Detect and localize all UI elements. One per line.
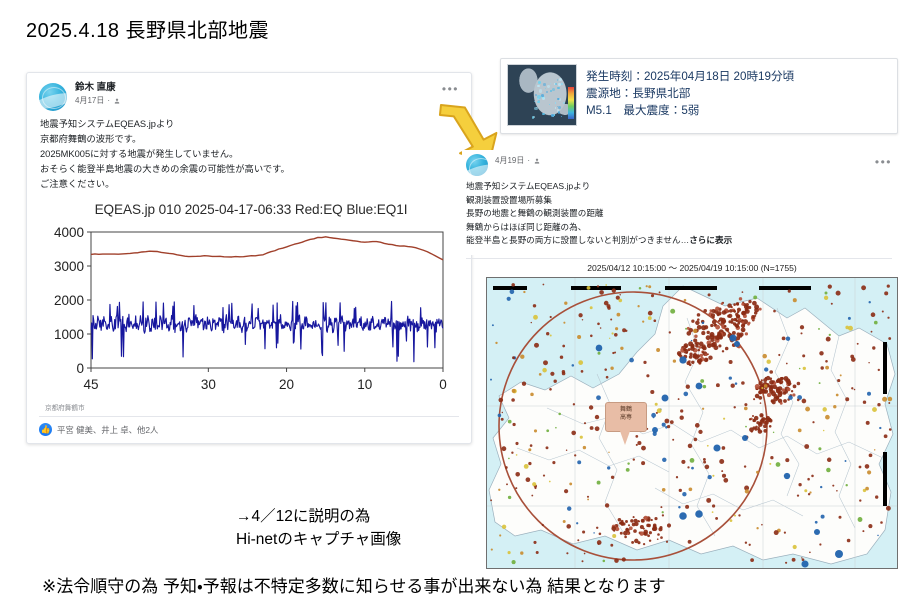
epicenter-dot xyxy=(807,478,810,481)
epicenter-dot xyxy=(758,381,762,385)
epicenter-dot xyxy=(802,399,807,404)
epicenter-dot xyxy=(633,516,635,518)
epicenter-dot xyxy=(688,444,693,449)
epicenter-dot xyxy=(502,412,503,413)
epicenter-dot xyxy=(647,534,650,537)
epicenter-dot xyxy=(869,453,873,457)
epicenter-dot xyxy=(833,405,836,408)
epicenter-dot xyxy=(590,306,593,309)
epicenter-dot xyxy=(512,389,516,393)
epicenter-dot xyxy=(734,406,736,408)
epicenter-dot xyxy=(502,525,506,529)
epicenter-dot xyxy=(815,521,818,524)
epicenter-dot xyxy=(498,489,500,491)
epicenter-dot xyxy=(629,358,634,363)
epicenter-dot xyxy=(793,385,797,389)
epicenter-dot xyxy=(703,309,707,313)
epicenter-dot xyxy=(711,343,716,348)
epicenter-dot xyxy=(562,345,565,348)
epicenter-dot xyxy=(705,465,710,470)
hinet-epicenter-map: 2025/04/12 10:15:00 ～ 2025/04/19 10:15:0… xyxy=(486,262,898,570)
epicenter-dot xyxy=(820,366,823,369)
epicenter-dot xyxy=(657,538,659,540)
station-label-line: 舞鶴 xyxy=(606,406,646,414)
epicenter-dot xyxy=(784,473,790,479)
epicenter-dot xyxy=(495,342,497,344)
epicenter-dot xyxy=(563,520,566,523)
epicenter-dot xyxy=(654,517,657,520)
epicenter-dot xyxy=(874,449,875,450)
epicenter-dot xyxy=(742,435,748,441)
epicenter-dot xyxy=(659,291,661,293)
epicenter-dot xyxy=(574,454,576,456)
epicenter-dot xyxy=(787,387,791,391)
epicenter-dot xyxy=(629,526,633,530)
epicenter-dot xyxy=(730,519,733,522)
post1-body-line: ご注意ください。 xyxy=(40,177,458,192)
epicenter-dot xyxy=(736,332,740,336)
chart-title: EQEAS.jp 010 2025-04-17-06:33 Red:EQ Blu… xyxy=(35,202,467,217)
epicenter-dot xyxy=(776,462,781,467)
epicenter-dot xyxy=(511,452,513,454)
epicenter-dot xyxy=(825,366,829,370)
epicenter-dot xyxy=(865,464,870,469)
post1-body-line: おそらく能登半島地震の大きめの余震の可能性が高いです。 xyxy=(40,162,458,177)
facebook-post-card-1: 鈴木 直康 4月17日 · ••• 地震予知システムEQEAS.jpより 京都府… xyxy=(26,72,472,444)
epicenter-dot xyxy=(620,347,623,350)
epicenter-dot xyxy=(688,341,693,346)
epicenter-dot xyxy=(651,519,653,521)
epicenter-dot xyxy=(643,543,645,545)
epicenter-dot xyxy=(884,434,888,438)
epicenter-dot xyxy=(878,369,880,371)
epicenter-dot xyxy=(680,409,683,412)
epicenter-dot xyxy=(875,495,878,498)
epicenter-dot xyxy=(678,398,680,400)
epicenter-dot xyxy=(543,284,545,286)
epicenter-dot xyxy=(506,483,508,485)
epicenter-dot xyxy=(869,301,871,303)
epicenter-dot xyxy=(626,468,630,472)
epicenter-dot xyxy=(769,463,771,465)
epicenter-dot xyxy=(708,293,711,296)
epicenter-dot xyxy=(762,354,767,359)
epicenter-dot xyxy=(703,385,706,388)
epicenter-dot xyxy=(759,308,762,311)
epicenter-dot xyxy=(701,325,706,330)
epicenter-dot xyxy=(758,391,761,394)
epicenter-dot xyxy=(767,393,771,397)
epicenter-dot xyxy=(641,461,645,465)
epicenter-dot xyxy=(542,524,544,526)
epicenter-dot xyxy=(727,303,732,308)
epicenter-dot xyxy=(520,355,524,359)
epicenter-dot xyxy=(619,294,621,296)
epicenter-dot xyxy=(546,332,549,335)
shindo-map-thumbnail[interactable] xyxy=(507,64,577,126)
epicenter-dot xyxy=(607,466,610,469)
epicenter-dot xyxy=(606,376,609,379)
epicenter-dot xyxy=(784,532,786,534)
epicenter-dot xyxy=(715,307,719,311)
epicenter-dot xyxy=(761,379,763,381)
kebab-menu-icon[interactable]: ••• xyxy=(442,85,459,93)
epicenter-dot xyxy=(745,542,747,544)
epicenter-dot xyxy=(877,535,879,537)
epicenter-dot xyxy=(801,560,808,567)
epicenter-dot xyxy=(711,309,715,313)
epicenter-dot xyxy=(687,466,689,468)
epicenter-dot xyxy=(819,351,823,355)
epicenter-dot xyxy=(823,430,825,432)
epicenter-dot xyxy=(786,337,790,341)
epicenter-dot xyxy=(694,438,698,442)
avatar[interactable] xyxy=(466,154,488,176)
epicenter-dot xyxy=(679,356,686,363)
epicenter-dot xyxy=(779,382,781,384)
epicenter-dot xyxy=(755,394,760,399)
epicenter-dot xyxy=(662,511,664,513)
epicenter-dot xyxy=(515,442,518,445)
epicenter-dot xyxy=(665,419,670,424)
epicenter-dot xyxy=(748,300,751,303)
epicenter-dot xyxy=(804,489,807,492)
post2-body-line: 地震予知システムEQEAS.jpより xyxy=(466,180,890,194)
epicenter-dot xyxy=(507,297,511,301)
epicenter-dot xyxy=(584,553,586,555)
epicenter-dot xyxy=(639,287,642,290)
epicenter-dot xyxy=(888,402,890,404)
epicenter-dot xyxy=(695,510,703,518)
epicenter-dot xyxy=(818,328,820,330)
epicenter-dot xyxy=(800,332,802,334)
epicenter-dot xyxy=(677,351,682,356)
station-marker-maizuru[interactable]: 舞鶴 高専 xyxy=(605,402,647,432)
epicenter-dot xyxy=(584,422,586,424)
epicenter-dot xyxy=(634,522,638,526)
epicenter-dot xyxy=(800,325,804,329)
epicenter-dot xyxy=(533,315,538,320)
epicenter-dot xyxy=(648,285,651,288)
epicenter-dot xyxy=(542,368,547,373)
epicenter-dot xyxy=(785,378,790,383)
epicenter-dot xyxy=(879,427,881,429)
epicenter-dot xyxy=(531,322,532,323)
post1-author-name[interactable]: 鈴木 直康 xyxy=(75,83,121,94)
map-canvas xyxy=(487,278,897,568)
epicenter-dot xyxy=(722,350,724,352)
epicenter-dot xyxy=(845,460,847,462)
epicenter-dot xyxy=(690,346,695,351)
epicenter-dot xyxy=(682,492,686,496)
epicenter-dot xyxy=(508,551,511,554)
epicenter-dot xyxy=(657,408,662,413)
epicenter-dot xyxy=(582,560,584,562)
epicenter-dot xyxy=(610,319,612,321)
epicenter-dot xyxy=(824,296,828,300)
epicenter-dot xyxy=(622,557,626,561)
epicenter-dot xyxy=(756,471,759,474)
post1-meta: 4月17日 · xyxy=(75,96,121,105)
epicenter-dot xyxy=(707,445,709,447)
epicenter-dot xyxy=(678,506,680,508)
epicenter-dot xyxy=(822,407,826,411)
epicenter-dot xyxy=(597,540,602,545)
epicenter-dot xyxy=(736,303,739,306)
epicenter-dot xyxy=(508,458,510,460)
epicenter-dot xyxy=(735,313,738,316)
quake-info-time: 発生時刻：2025年04月18日 20時19分頃 xyxy=(586,68,794,85)
epicenter-dot xyxy=(861,285,866,290)
epicenter-dot xyxy=(741,311,746,316)
epicenter-dot xyxy=(729,334,736,341)
epicenter-dot xyxy=(866,421,870,425)
epicenter-dot xyxy=(535,487,537,489)
epicenter-dot xyxy=(742,319,744,321)
epicenter-dot xyxy=(712,511,714,513)
epicenter-dot xyxy=(689,355,693,359)
svg-text:1000: 1000 xyxy=(54,327,84,342)
post1-date[interactable]: 4月17日 xyxy=(75,96,104,105)
hinet-map-frame[interactable]: 舞鶴 高専 xyxy=(486,277,898,569)
epicenter-dot xyxy=(710,338,714,342)
epicenter-dot xyxy=(685,505,689,509)
epicenter-dot xyxy=(646,285,648,287)
divider xyxy=(466,258,892,259)
epicenter-dot xyxy=(746,306,749,309)
epicenter-dot xyxy=(533,541,536,544)
epicenter-dot xyxy=(804,444,809,449)
epicenter-dot xyxy=(646,524,650,528)
epicenter-dot xyxy=(691,340,692,341)
epicenter-dot xyxy=(672,439,674,441)
epicenter-dot xyxy=(742,291,744,293)
epicenter-dot xyxy=(609,338,610,339)
epicenter-dot xyxy=(867,392,871,396)
epicenter-dot xyxy=(703,458,706,461)
post1-reactions[interactable]: 👍 平宮 健美、井上 卓、他2人 xyxy=(27,417,471,444)
epicenter-dot xyxy=(660,536,663,539)
epicenter-dot xyxy=(582,530,585,533)
epicenter-dot xyxy=(543,360,548,365)
epicenter-dot xyxy=(814,529,820,535)
epicenter-dot xyxy=(707,331,710,334)
epicenter-dot xyxy=(697,325,702,330)
epicenter-dot xyxy=(526,477,531,482)
epicenter-dot xyxy=(552,461,555,464)
epicenter-dot xyxy=(846,484,848,486)
epicenter-dot xyxy=(596,527,598,529)
epicenter-dot xyxy=(566,524,571,529)
epicenter-dot xyxy=(596,395,601,400)
epicenter-dot xyxy=(771,391,776,396)
epicenter-dot xyxy=(857,343,859,345)
epicenter-dot xyxy=(625,520,628,523)
kebab-menu-icon[interactable]: ••• xyxy=(875,158,892,166)
quake-info-lines: 発生時刻：2025年04月18日 20時19分頃 震源地：長野県北部 M5.1 … xyxy=(586,64,794,119)
epicenter-dot xyxy=(748,306,751,309)
epicenter-dot xyxy=(639,531,643,535)
epicenter-dot xyxy=(831,303,833,305)
epicenter-dot xyxy=(718,313,721,316)
epicenter-dot xyxy=(684,299,687,302)
epicenter-dot xyxy=(722,474,726,478)
epicenter-dot xyxy=(531,495,533,497)
epicenter-dot xyxy=(782,388,785,391)
epicenter-dot xyxy=(763,424,767,428)
see-more-link[interactable]: さらに表示 xyxy=(689,235,732,245)
svg-text:10: 10 xyxy=(357,377,372,392)
epicenter-dot xyxy=(587,286,591,290)
epicenter-dot xyxy=(887,284,890,287)
epicenter-dot xyxy=(596,345,603,352)
epicenter-dot xyxy=(636,444,638,446)
epicenter-dot xyxy=(693,338,697,342)
epicenter-dot xyxy=(530,393,534,397)
epicenter-dot xyxy=(780,402,783,405)
epicenter-dot xyxy=(524,464,529,469)
epicenter-dot xyxy=(649,531,652,534)
epicenter-dot xyxy=(599,533,602,536)
epicenter-dot xyxy=(734,324,738,328)
epicenter-dot xyxy=(713,444,720,451)
epicenter-dot xyxy=(886,506,891,511)
epicenter-dot xyxy=(707,353,709,355)
epicenter-dot xyxy=(577,460,581,464)
epicenter-dot xyxy=(611,332,613,334)
epicenter-dot xyxy=(776,387,780,391)
epicenter-dot xyxy=(767,360,771,364)
post1-header: 鈴木 直康 4月17日 · ••• xyxy=(27,73,471,115)
epicenter-dot xyxy=(564,489,568,493)
epicenter-dot xyxy=(641,519,644,522)
epicenter-dot xyxy=(793,545,797,549)
epicenter-dot xyxy=(701,331,705,335)
epicenter-dot xyxy=(679,489,682,492)
epicenter-dot xyxy=(564,302,567,305)
epicenter-dot xyxy=(700,379,704,383)
friends-icon xyxy=(113,97,121,105)
epicenter-dot xyxy=(546,429,549,432)
epicenter-dot xyxy=(763,429,767,433)
annotation-line: Hi-netのキャプチャ画像 xyxy=(236,528,401,551)
epicenter-dot xyxy=(640,525,644,529)
epicenter-dot xyxy=(618,518,622,522)
epicenter-dot xyxy=(702,344,706,348)
epicenter-dot xyxy=(882,310,884,312)
epicenter-dot xyxy=(698,349,701,352)
svg-text:0: 0 xyxy=(76,361,84,376)
post2-meta: 4月19日 · xyxy=(495,156,541,165)
epicenter-dot xyxy=(520,551,523,554)
epicenter-dot xyxy=(662,514,664,516)
epicenter-dot xyxy=(872,346,875,349)
epicenter-dot xyxy=(633,529,637,533)
epicenter-dot xyxy=(744,465,746,467)
epicenter-dot xyxy=(840,374,842,376)
epicenter-dot xyxy=(614,333,618,337)
post2-date[interactable]: 4月19日 xyxy=(495,156,524,165)
epicenter-dot xyxy=(732,331,736,335)
epicenter-dot xyxy=(744,407,748,411)
epicenter-dot xyxy=(597,481,601,485)
epicenter-dot xyxy=(576,522,578,524)
epicenter-dot xyxy=(709,332,714,337)
epicenter-dot xyxy=(825,292,828,295)
epicenter-dot xyxy=(581,370,584,373)
epicenter-dot xyxy=(865,487,869,491)
epicenter-dot xyxy=(694,342,696,344)
avatar[interactable] xyxy=(39,83,67,111)
epicenter-dot xyxy=(543,475,545,477)
epicenter-dot xyxy=(859,466,862,469)
epicenter-dot xyxy=(711,313,715,317)
epicenter-dot xyxy=(744,403,747,406)
epicenter-dot xyxy=(827,458,832,463)
epicenter-dot xyxy=(718,344,721,347)
epicenter-dot xyxy=(851,387,853,389)
epicenter-dot xyxy=(667,523,671,527)
epicenter-dot xyxy=(738,514,740,516)
epicenter-dot xyxy=(558,413,561,416)
epicenter-dot xyxy=(612,352,614,354)
epicenter-dot xyxy=(512,560,516,564)
eqeas-waveform-chart: EQEAS.jp 010 2025-04-17-06:33 Red:EQ Blu… xyxy=(27,202,471,412)
epicenter-dot xyxy=(871,331,873,333)
epicenter-dot xyxy=(719,317,723,321)
epicenter-dot xyxy=(549,481,551,483)
epicenter-dot xyxy=(637,541,640,544)
epicenter-dot xyxy=(805,407,810,412)
epicenter-dot xyxy=(828,284,832,288)
epicenter-dot xyxy=(492,324,494,326)
epicenter-dot xyxy=(858,517,863,522)
slide-root: 2025.4.18 長野県北部地震 鈴木 直康 4月17日 · ••• 地震予知… xyxy=(0,0,900,600)
epicenter-dot xyxy=(829,334,831,336)
epicenter-dot xyxy=(792,393,795,396)
epicenter-dot xyxy=(888,397,893,402)
epicenter-dot xyxy=(819,543,821,545)
epicenter-dot xyxy=(889,428,892,431)
post1-reaction-names[interactable]: 平宮 健美、井上 卓、他2人 xyxy=(57,424,158,436)
epicenter-dot xyxy=(688,540,692,544)
epicenter-dot xyxy=(764,384,768,388)
epicenter-dot xyxy=(653,417,655,419)
epicenter-dot xyxy=(708,475,712,479)
epicenter-dot xyxy=(534,343,539,348)
epicenter-dot xyxy=(863,400,866,403)
epicenter-dot xyxy=(555,427,557,429)
epicenter-dot xyxy=(825,415,830,420)
epicenter-dot xyxy=(528,462,531,465)
epicenter-dot xyxy=(698,430,702,434)
epicenter-dot xyxy=(871,312,876,317)
epicenter-dot xyxy=(560,355,563,358)
epicenter-dot xyxy=(653,319,656,322)
svg-text:30: 30 xyxy=(201,377,216,392)
epicenter-dot xyxy=(788,395,793,400)
epicenter-dot xyxy=(695,321,700,326)
quake-info-epicenter: 震源地：長野県北部 xyxy=(586,85,794,102)
post2-header: 4月19日 · ••• xyxy=(462,150,898,178)
epicenter-dot xyxy=(729,309,733,313)
epicenter-dot xyxy=(605,284,607,286)
epicenter-dot xyxy=(715,517,718,520)
epicenter-dot xyxy=(553,379,556,382)
epicenter-dot xyxy=(868,362,869,363)
epicenter-dot xyxy=(604,368,607,371)
epicenter-dot xyxy=(758,426,760,428)
